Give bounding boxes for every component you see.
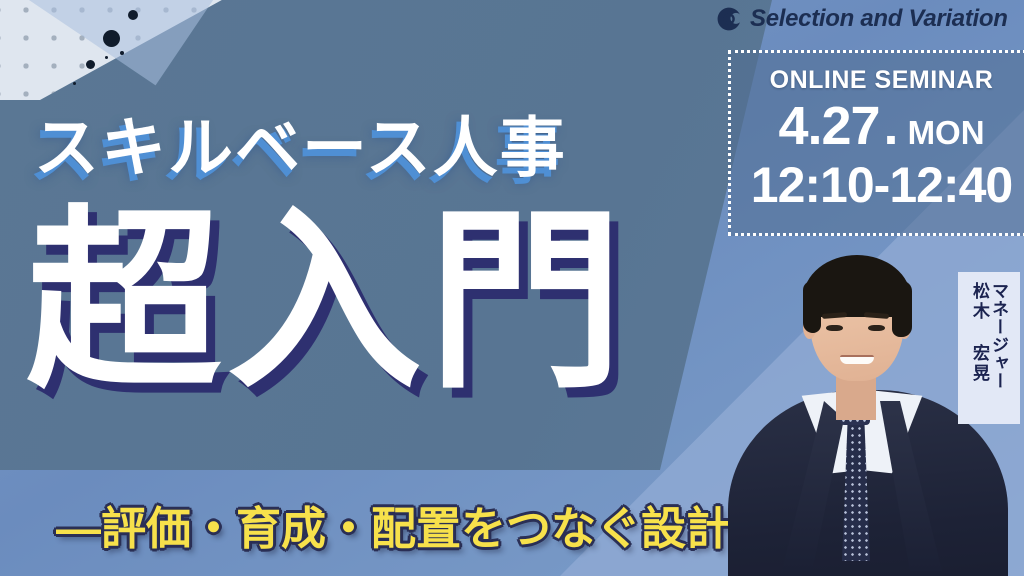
page-title: 超入門: [26, 205, 629, 400]
spiral-circle-logo-icon: [716, 6, 742, 32]
seminar-banner: Selection and Variation ONLINE SEMINAR 4…: [0, 0, 1024, 576]
seminar-date-suffix: .: [884, 99, 898, 153]
presenter-name: 松木 宏晃: [971, 282, 988, 384]
hair-side: [892, 281, 912, 337]
seminar-info-box: ONLINE SEMINAR 4.27 . MON 12:10-12:40: [728, 50, 1024, 236]
online-seminar-label: ONLINE SEMINAR: [770, 66, 994, 95]
brand-logo[interactable]: Selection and Variation: [716, 5, 1008, 33]
seminar-time: 12:10-12:40: [751, 159, 1012, 212]
brand-name: Selection and Variation: [750, 5, 1008, 33]
seminar-date-row: 4.27 . MON: [778, 99, 984, 153]
presenter-role: マネージャー: [990, 282, 1007, 390]
seminar-day-of-week: MON: [908, 116, 985, 149]
mouth: [840, 355, 874, 364]
hair-side: [803, 281, 821, 333]
seminar-date: 4.27: [778, 99, 879, 153]
presenter-nameplate: 松木 宏晃 マネージャー: [958, 272, 1020, 424]
headline-kicker: スキルベース人事: [34, 95, 567, 189]
eye: [868, 325, 885, 331]
eye: [826, 325, 843, 331]
